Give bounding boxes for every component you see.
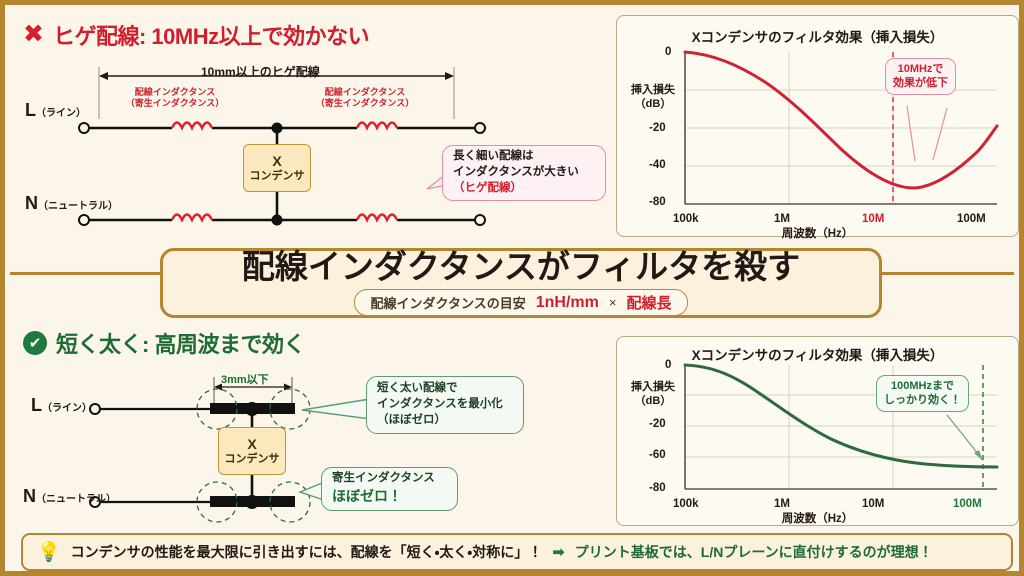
banner-sub-value: 1nH/mm <box>536 294 599 312</box>
inductance-label-left: 配線インダクタンス （寄生インダクタンス） <box>115 87 235 110</box>
terminal-label-L-bottom: L（ライン） <box>31 395 92 416</box>
inductance-label-right: 配線インダクタンス （寄生インダクタンス） <box>305 87 425 110</box>
banner-title: 配線インダクタンスがフィルタを殺す <box>242 250 800 285</box>
x-capacitor-bottom: X コンデンサ <box>218 427 286 475</box>
callout-good-top: 短く太い配線で インダクタンスを最小化 （ほぼゼロ） <box>366 376 524 434</box>
center-banner: 配線インダクタンスがフィルタを殺す 配線インダクタンスの目安 1nH/mm × … <box>160 248 882 318</box>
terminal-label-N-top: N（ニュートラル） <box>25 193 118 214</box>
chart-panel-bottom: Xコンデンサのフィルタ効果（挿入損失） 挿入損失 （dB） 0 -20 -60 … <box>616 336 1019 526</box>
banner-sub-lead: 配線インダクタンスの目安 <box>371 293 526 312</box>
callout-bad: 長く細い配線は インダクタンスが大きい （ヒゲ配線） <box>442 145 606 201</box>
arrow-right-icon: ➡ <box>552 543 565 561</box>
callout-tail-good-top <box>300 395 372 425</box>
footer-main-text: コンデンサの性能を最大限に引き出すには、配線を「短く・太く・対称に」！ <box>71 542 543 562</box>
chart-annotation-bottom: 100MHzまで しっかり効く！ <box>876 375 969 412</box>
check-circle-icon: ✔ <box>23 331 47 355</box>
chart-panel-top: Xコンデンサのフィルタ効果（挿入損失） 挿入損失 （dB） 0 -20 -40 … <box>616 15 1019 237</box>
lightbulb-icon: 💡 <box>37 543 61 562</box>
poster-root: ✖ ヒゲ配線: 10MHz以上で効かない 10mm <box>0 0 1024 576</box>
dimension-label-top: 10mm以上のヒゲ配線 <box>201 63 320 80</box>
chart-plot-top <box>617 16 1020 238</box>
banner-subtitle: 配線インダクタンスの目安 1nH/mm × 配線長 <box>354 289 689 316</box>
chart-plot-bottom <box>617 337 1020 527</box>
terminal-label-N-bottom: N（ニュートラル） <box>23 486 116 507</box>
chart-annotation-top: 10MHzで 効果が低下 <box>885 58 956 95</box>
cross-mark-icon: ✖ <box>23 22 44 47</box>
terminal-label-L-top: L（ライン） <box>25 100 86 121</box>
section-header-bad: ✖ ヒゲ配線: 10MHz以上で効かない <box>23 19 369 51</box>
dimension-label-bottom: 3mm以下 <box>221 371 269 387</box>
section-header-good: ✔ 短く太く: 高周波まで効く <box>23 327 305 359</box>
banner-sub-tail: 配線長 <box>626 292 671 313</box>
footer-tip-bar: 💡 コンデンサの性能を最大限に引き出すには、配線を「短く・太く・対称に」！ ➡ … <box>21 533 1013 571</box>
section-title-bad: ヒゲ配線: 10MHz以上で効かない <box>53 19 369 51</box>
banner-sub-times: × <box>609 295 617 310</box>
footer-green-text: プリント基板では、L/Nプレーンに直付けするのが理想！ <box>575 542 933 562</box>
callout-good-bottom: 寄生インダクタンス ほぼゼロ！ <box>321 467 458 511</box>
section-title-good: 短く太く: 高周波まで効く <box>56 327 305 359</box>
x-capacitor-top: X コンデンサ <box>243 144 311 192</box>
